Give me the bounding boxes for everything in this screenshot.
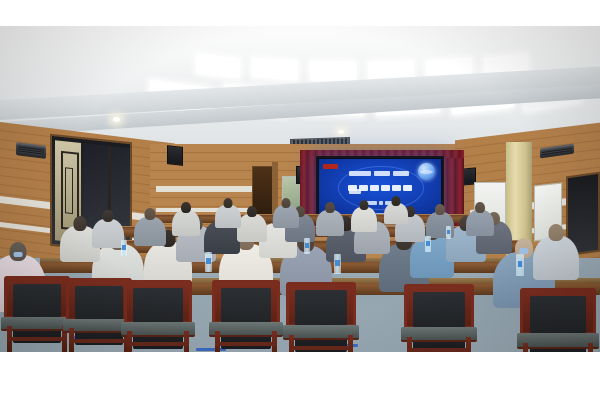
slide-text-glyph	[374, 171, 390, 176]
empty-chair[interactable]	[212, 280, 280, 352]
wall-speaker-far-right	[167, 145, 183, 166]
person-torso	[316, 210, 344, 236]
empty-chair[interactable]	[404, 284, 474, 352]
audience-member	[533, 224, 579, 280]
audience-member	[237, 206, 267, 242]
person-head	[475, 202, 485, 213]
person-torso	[384, 203, 408, 224]
chair-leg	[588, 343, 593, 352]
person-torso	[215, 205, 241, 228]
person-head	[145, 208, 156, 220]
person-head	[325, 202, 335, 213]
person-head	[74, 216, 87, 231]
chair-rail	[215, 342, 278, 346]
person-head	[247, 206, 257, 217]
audience-member	[172, 202, 200, 236]
face-mask	[14, 252, 23, 257]
water-bottle[interactable]	[334, 254, 341, 274]
chair-rail	[127, 342, 190, 346]
person-torso	[533, 236, 579, 280]
conference-hall-photo	[0, 26, 600, 352]
ceiling-light-panel	[310, 61, 356, 82]
slide-text-glyph	[348, 185, 357, 191]
person-head	[224, 198, 233, 208]
water-bottle[interactable]	[121, 240, 127, 256]
person-head	[282, 198, 291, 208]
slide-text-glyph	[392, 185, 401, 191]
empty-chair[interactable]	[124, 280, 192, 352]
slide-text-glyph	[370, 185, 379, 191]
ceiling-light-panel	[252, 57, 298, 80]
chair-rail	[69, 339, 130, 343]
person-head	[549, 224, 564, 241]
chair-back-pad	[295, 290, 347, 352]
audience-member	[466, 202, 494, 236]
person-head	[360, 200, 369, 210]
chair-leg	[523, 343, 528, 352]
chair-rail	[289, 346, 353, 350]
slide-text-glyph	[393, 171, 409, 176]
empty-chair[interactable]	[66, 278, 132, 352]
chair-back-pad	[221, 288, 271, 349]
slide-organization-badge	[323, 164, 338, 169]
slide-text-glyph	[381, 185, 390, 191]
person-torso	[237, 214, 267, 242]
ceiling-downlight	[338, 130, 344, 134]
chair-back-pad	[13, 284, 62, 343]
audience-member	[215, 198, 241, 228]
water-bottle[interactable]	[205, 252, 212, 272]
window-mullion	[65, 167, 73, 214]
empty-chair[interactable]	[4, 276, 70, 352]
person-torso	[351, 207, 377, 232]
audience-member	[273, 198, 299, 228]
water-bottle[interactable]	[516, 254, 524, 276]
person-torso	[273, 205, 299, 228]
slide-text-glyph	[359, 185, 368, 191]
empty-chair[interactable]	[286, 282, 356, 352]
audience-member	[316, 202, 344, 236]
audience-member	[134, 208, 166, 246]
person-torso	[92, 219, 124, 248]
person-head	[435, 204, 445, 215]
chair-back-pad	[75, 286, 124, 345]
water-bottle[interactable]	[304, 238, 310, 254]
slide-text-glyph	[349, 171, 371, 176]
photo-frame	[0, 0, 600, 400]
chair-rail	[7, 337, 68, 341]
person-torso	[466, 210, 494, 236]
chair-seat	[517, 333, 599, 346]
chair-back-pad	[413, 292, 465, 352]
slide-header-text	[349, 163, 415, 168]
audience-member	[92, 210, 124, 248]
empty-chair[interactable]	[520, 288, 596, 352]
chair-back-pad	[133, 288, 183, 349]
person-head	[392, 196, 401, 206]
person-torso	[172, 210, 200, 236]
audience-member	[351, 200, 377, 232]
person-head	[181, 202, 191, 213]
person-torso	[134, 217, 166, 246]
person-head	[103, 210, 114, 222]
chair-rail	[407, 348, 471, 352]
slide-text-glyph	[403, 185, 412, 191]
water-bottle[interactable]	[425, 236, 431, 252]
audience-member	[384, 196, 408, 224]
water-bottle[interactable]	[446, 226, 451, 239]
ceiling-downlight	[113, 117, 120, 122]
